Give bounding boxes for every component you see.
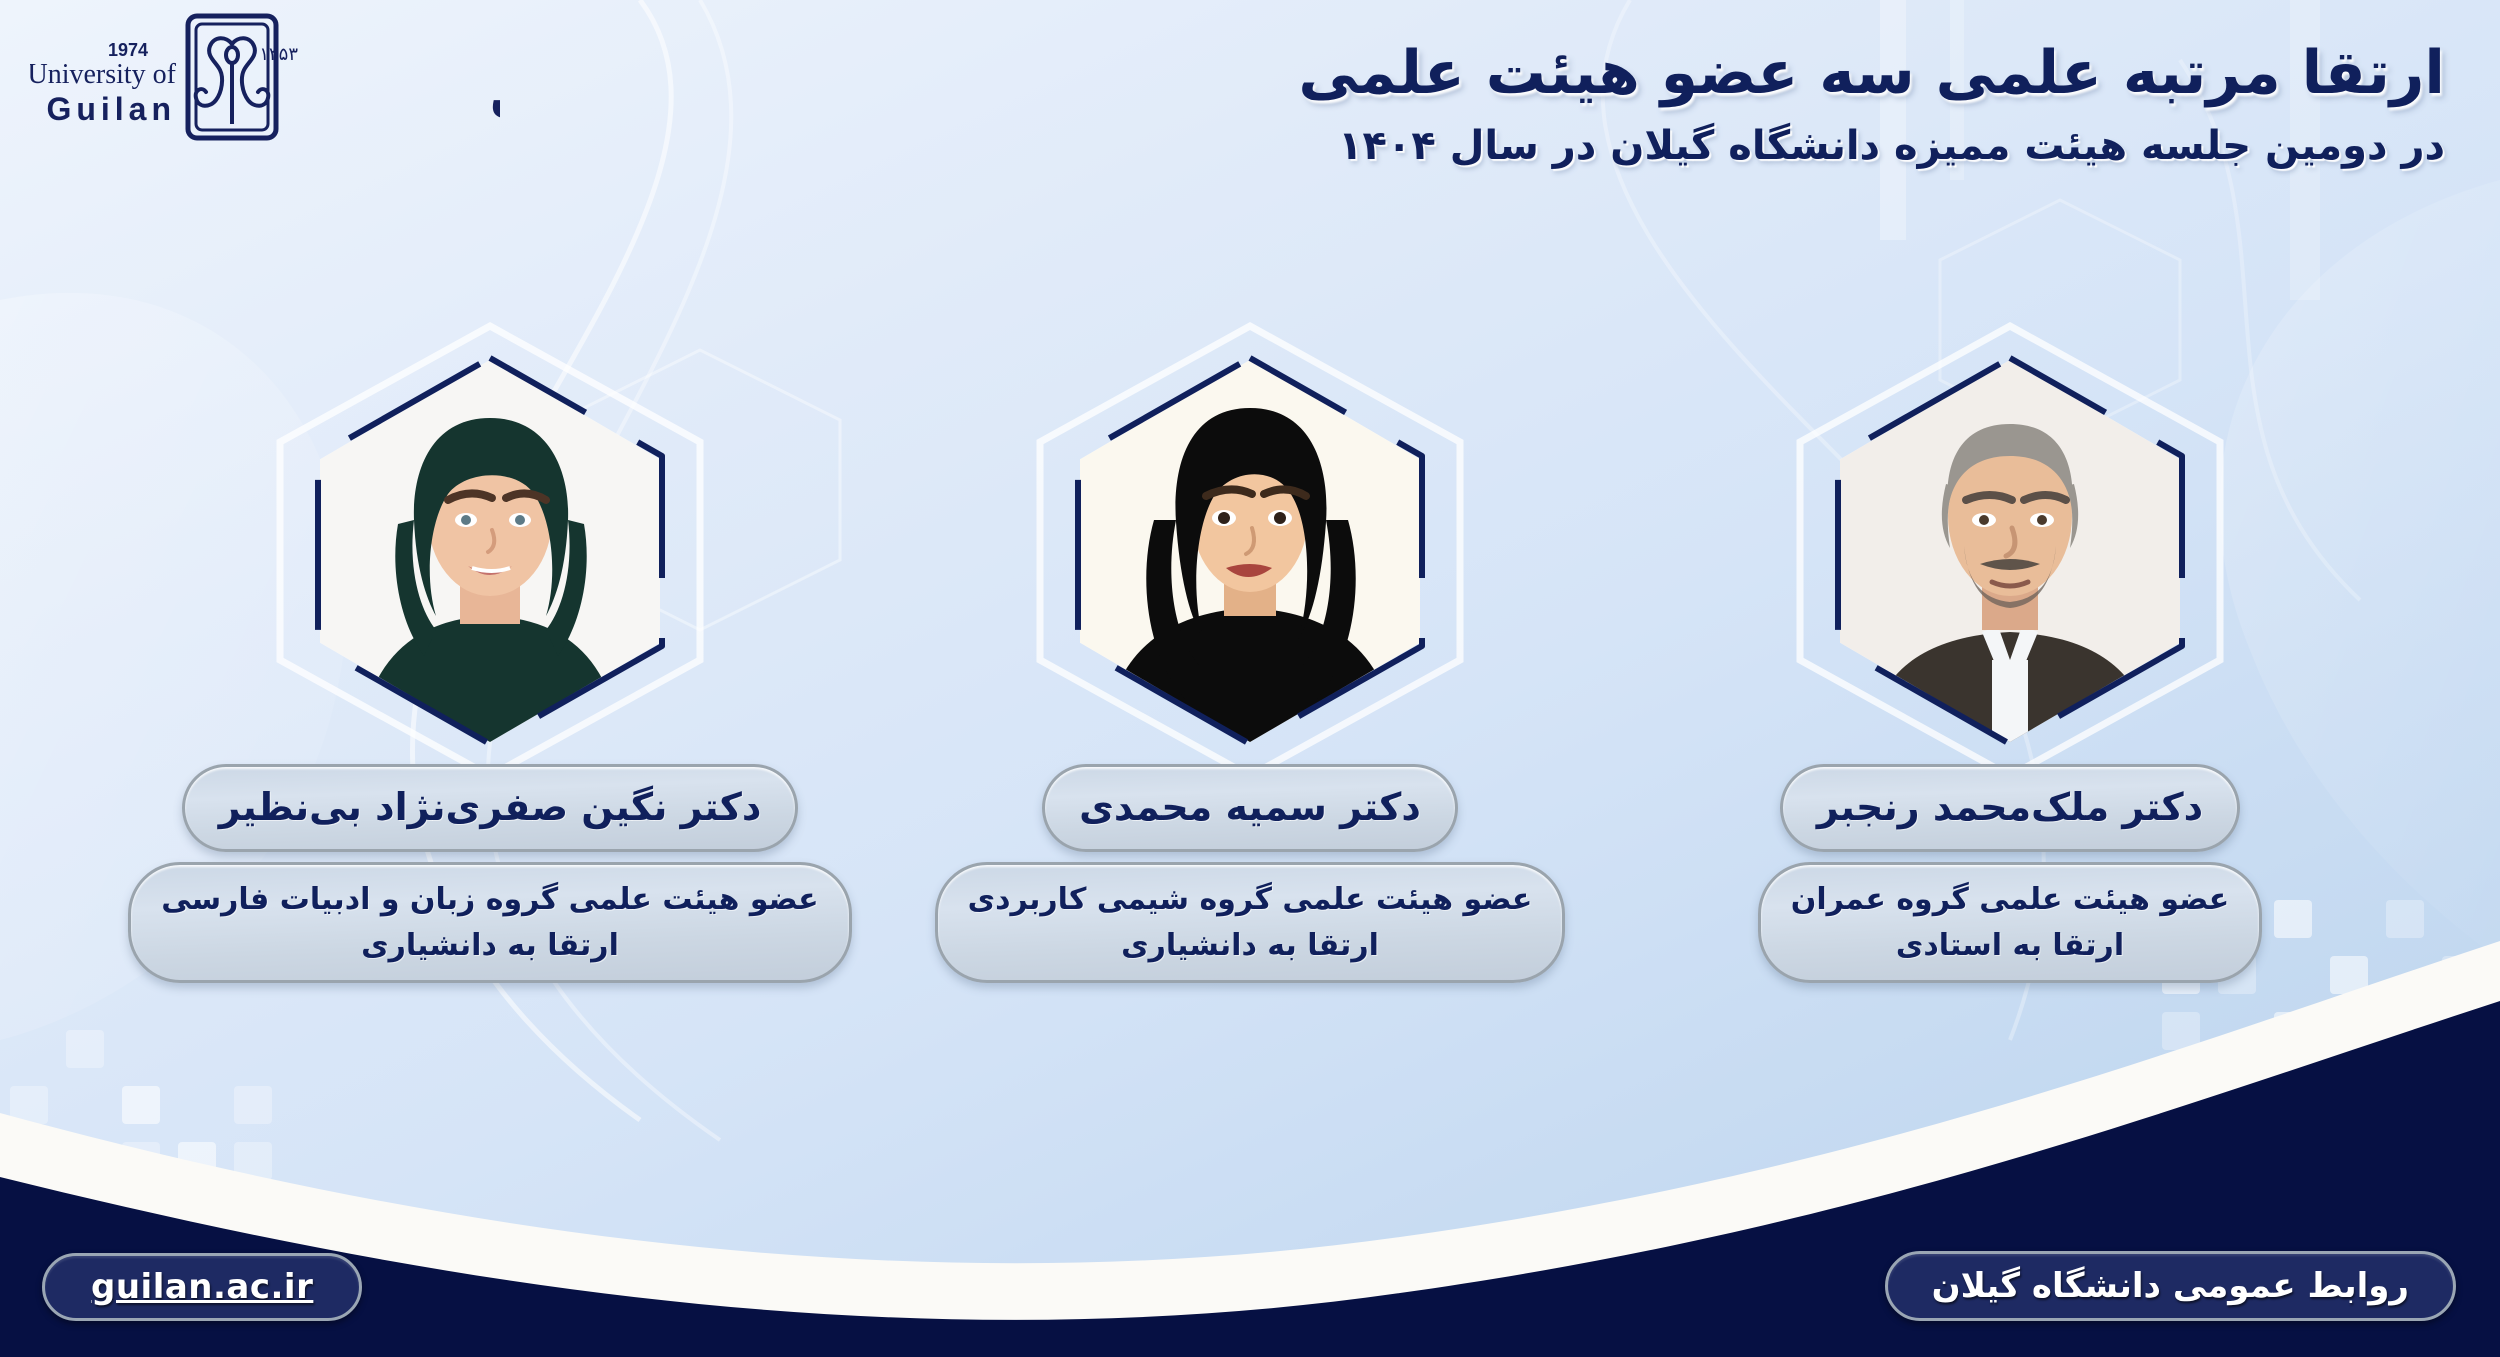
faculty-name-plate: دکتر سمیه محمدی [1042, 764, 1458, 852]
faculty-list: دکتر نگین صفری‌نژاد بی‌نظیر عضو هیئت علم… [0, 360, 2500, 1050]
faculty-department: عضو هیئت علمی گروه شیمی کاربردی [968, 877, 1533, 923]
website-url: guilan.ac.ir [91, 1267, 313, 1307]
page-title: ارتقا مرتبه علمی سه عضو هیئت علمی [1125, 36, 2445, 110]
header-text-block: ارتقا مرتبه علمی سه عضو هیئت علمی در دوم… [1125, 36, 2445, 172]
faculty-promotion: ارتقا به دانشیاری [968, 923, 1533, 969]
university-logo: 1974 University of Guilan ۱۳۵۳ دانشگاه گ… [30, 6, 500, 146]
guilan-logo-icon: 1974 University of Guilan ۱۳۵۳ دانشگاه گ… [30, 6, 500, 146]
faculty-name: دکتر نگین صفری‌نژاد بی‌نظیر [219, 784, 762, 832]
faculty-card: دکتر نگین صفری‌نژاد بی‌نظیر عضو هیئت علم… [170, 360, 810, 983]
website-badge[interactable]: guilan.ac.ir [42, 1253, 362, 1321]
portrait-hexagon [1840, 360, 2180, 742]
hexagon-outline-icon [314, 354, 666, 748]
logo-fa-text: دانشگاه گیلان [490, 68, 500, 122]
faculty-name: دکتر سمیه محمدی [1079, 784, 1421, 832]
faculty-department: عضو هیئت علمی گروه زبان و ادبیات فارسی [161, 877, 818, 923]
poster-canvas: 1974 University of Guilan ۱۳۵۳ دانشگاه گ… [0, 0, 2500, 1357]
hexagon-outline-icon [1074, 354, 1426, 748]
hexagon-outline-icon [1834, 354, 2186, 748]
faculty-role-plate: عضو هیئت علمی گروه عمران ارتقا به استادی [1758, 862, 2263, 983]
faculty-name: دکتر ملک‌محمد رنجبر [1817, 784, 2203, 832]
logo-year-en: 1974 [108, 40, 148, 60]
faculty-role-plate: عضو هیئت علمی گروه زبان و ادبیات فارسی ا… [128, 862, 851, 983]
faculty-name-plate: دکتر ملک‌محمد رنجبر [1780, 764, 2240, 852]
public-relations-badge[interactable]: روابط عمومی دانشگاه گیلان [1885, 1251, 2456, 1321]
faculty-promotion: ارتقا به استادی [1791, 923, 2230, 969]
logo-university-of-text: University of [30, 59, 177, 90]
faculty-card: دکتر ملک‌محمد رنجبر عضو هیئت علمی گروه ع… [1690, 360, 2330, 983]
page-subtitle: در دومین جلسه هیئت ممیزه دانشگاه گیلان د… [1125, 120, 2445, 172]
public-relations-label: روابط عمومی دانشگاه گیلان [1932, 1266, 2409, 1306]
logo-guilan-text: Guilan [46, 91, 176, 127]
logo-year-fa: ۱۳۵۳ [259, 44, 298, 65]
portrait-hexagon [320, 360, 660, 742]
faculty-promotion: ارتقا به دانشیاری [161, 923, 818, 969]
portrait-hexagon [1080, 360, 1420, 742]
faculty-name-plate: دکتر نگین صفری‌نژاد بی‌نظیر [182, 764, 799, 852]
faculty-card: دکتر سمیه محمدی عضو هیئت علمی گروه شیمی … [930, 360, 1570, 983]
faculty-role-plate: عضو هیئت علمی گروه شیمی کاربردی ارتقا به… [935, 862, 1566, 983]
faculty-department: عضو هیئت علمی گروه عمران [1791, 877, 2230, 923]
